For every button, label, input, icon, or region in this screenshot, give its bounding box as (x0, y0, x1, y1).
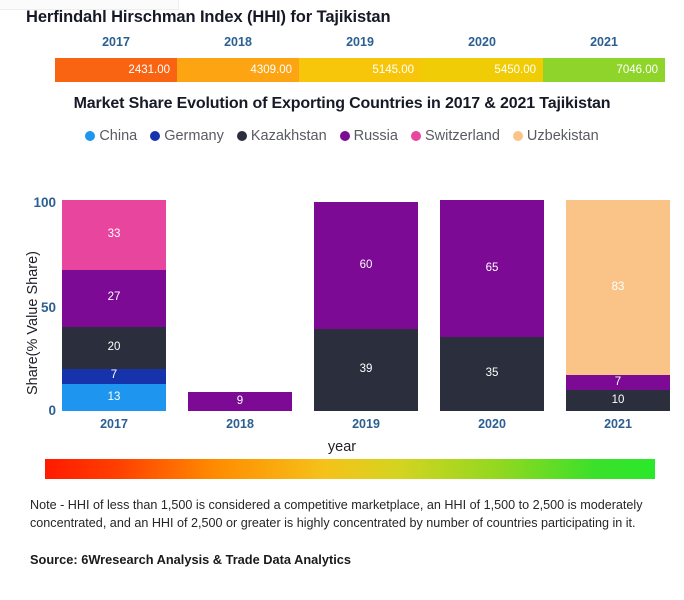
bar-segment-value: 83 (612, 282, 625, 294)
hhi-segment-2020: 5450.00 (421, 58, 543, 82)
hhi-value-2018: 4309.00 (250, 64, 292, 76)
hhi-year-2021: 2021 (543, 35, 665, 53)
hhi-year-2017: 2017 (55, 35, 177, 53)
bar-segment-value: 13 (108, 392, 121, 404)
bar-segment-russia-2019[interactable]: 60 (314, 202, 418, 329)
bar-segment-value: 65 (486, 263, 499, 275)
x-tick-2020: 2020 (440, 417, 544, 431)
hhi-value-2019: 5145.00 (372, 64, 414, 76)
bar-segment-value: 33 (108, 229, 121, 241)
bar-segment-russia-2020[interactable]: 65 (440, 200, 544, 337)
y-axis-ticks: 100 50 0 (8, 155, 56, 445)
footer-source: Source: 6Wresearch Analysis & Trade Data… (30, 552, 668, 567)
chart-plot-area: Share(% Value Share) 100 50 0 3327207139… (0, 155, 684, 445)
bar-column-2017[interactable]: 332720713 (62, 200, 166, 411)
legend-dot-icon (85, 131, 95, 141)
y-tick-50: 50 (12, 300, 56, 315)
legend-label: Uzbekistan (527, 128, 599, 144)
legend-label: Germany (164, 128, 224, 144)
legend-label: Kazakhstan (251, 128, 327, 144)
legend-dot-icon (411, 131, 421, 141)
y-tick-0: 0 (12, 403, 56, 418)
bar-column-2018[interactable]: 9 (188, 200, 292, 411)
hhi-year-2018: 2018 (177, 35, 299, 53)
y-tick-100: 100 (12, 195, 56, 210)
x-tick-2021: 2021 (566, 417, 670, 431)
bar-segment-value: 7 (111, 370, 117, 382)
bar-column-2021[interactable]: 83710 (566, 200, 670, 411)
bar-column-2019[interactable]: 6039 (314, 200, 418, 411)
x-tick-2019: 2019 (314, 417, 418, 431)
hhi-year-row: 2017 2018 2019 2020 2021 (55, 35, 665, 53)
legend-item-kazakhstan[interactable]: Kazakhstan (237, 128, 327, 144)
hhi-value-bar: 2431.00 4309.00 5145.00 5450.00 7046.00 (55, 58, 665, 82)
hhi-segment-2018: 4309.00 (177, 58, 299, 82)
legend-label: China (99, 128, 137, 144)
legend-label: Switzerland (425, 128, 500, 144)
bar-segment-germany-2017[interactable]: 7 (62, 369, 166, 384)
footer-note: Note - HHI of less than 1,500 is conside… (30, 497, 668, 533)
legend-dot-icon (513, 131, 523, 141)
hhi-segment-2017: 2431.00 (55, 58, 177, 82)
x-axis-label: year (0, 439, 684, 455)
bar-column-2020[interactable]: 6535 (440, 200, 544, 411)
legend-item-china[interactable]: China (85, 128, 137, 144)
bar-segment-value: 39 (360, 364, 373, 376)
chart-title: Market Share Evolution of Exporting Coun… (6, 95, 678, 113)
bar-segment-russia-2018[interactable]: 9 (188, 392, 292, 411)
legend-label: Russia (354, 128, 398, 144)
bar-segment-china-2017[interactable]: 13 (62, 384, 166, 411)
bar-segment-kazakhstan-2017[interactable]: 20 (62, 327, 166, 369)
hhi-value-2021: 7046.00 (616, 64, 658, 76)
bar-segment-value: 9 (237, 396, 243, 408)
hhi-segment-2021: 7046.00 (543, 58, 665, 82)
x-tick-2017: 2017 (62, 417, 166, 431)
bar-segment-switzerland-2017[interactable]: 33 (62, 200, 166, 270)
legend-dot-icon (340, 131, 350, 141)
bar-segment-uzbekistan-2021[interactable]: 83 (566, 200, 670, 375)
bar-segment-value: 20 (108, 342, 121, 354)
stacked-bars: 33272071396039653583710 (62, 200, 670, 411)
bar-segment-value: 35 (486, 368, 499, 380)
hhi-title: Herfindahl Hirschman Index (HHI) for Taj… (26, 8, 390, 27)
bar-segment-kazakhstan-2019[interactable]: 39 (314, 329, 418, 411)
hhi-year-2019: 2019 (299, 35, 421, 53)
hhi-year-2020: 2020 (421, 35, 543, 53)
legend-dot-icon (237, 131, 247, 141)
bar-segment-value: 10 (612, 395, 625, 407)
legend-dot-icon (150, 131, 160, 141)
hhi-value-2017: 2431.00 (128, 64, 170, 76)
legend-item-uzbekistan[interactable]: Uzbekistan (513, 128, 599, 144)
bar-segment-russia-2021[interactable]: 7 (566, 375, 670, 390)
bar-segment-value: 7 (615, 377, 621, 389)
bar-segment-kazakhstan-2020[interactable]: 35 (440, 337, 544, 411)
x-tick-2018: 2018 (188, 417, 292, 431)
legend-item-russia[interactable]: Russia (340, 128, 398, 144)
hhi-value-2020: 5450.00 (494, 64, 536, 76)
chart-legend: ChinaGermanyKazakhstanRussiaSwitzerlandU… (0, 128, 684, 144)
hhi-segment-2019: 5145.00 (299, 58, 421, 82)
bar-segment-value: 27 (108, 292, 121, 304)
bar-segment-russia-2017[interactable]: 27 (62, 270, 166, 327)
bar-segment-value: 60 (360, 260, 373, 272)
hhi-gradient-scale (45, 459, 655, 479)
legend-item-germany[interactable]: Germany (150, 128, 224, 144)
bar-segment-kazakhstan-2021[interactable]: 10 (566, 390, 670, 411)
legend-item-switzerland[interactable]: Switzerland (411, 128, 500, 144)
